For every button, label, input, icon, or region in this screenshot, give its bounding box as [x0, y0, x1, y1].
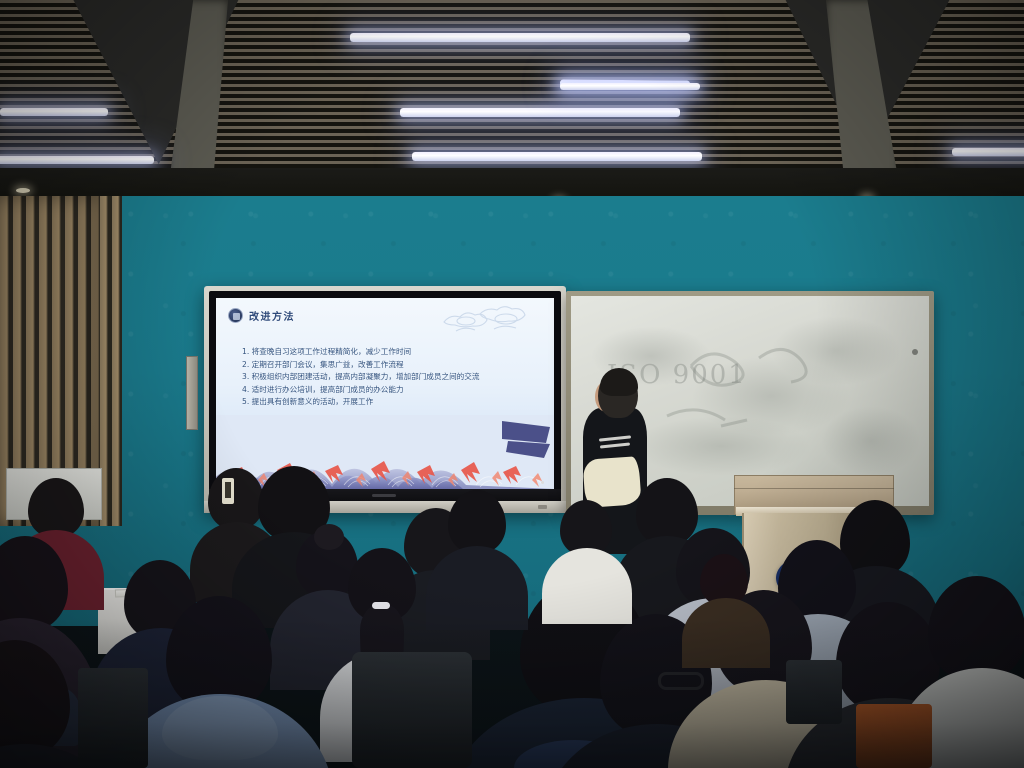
chair-back — [856, 704, 932, 768]
presentation-slide[interactable]: 改进方法 1. 将查晚自习这项工作过程精简化，减少工作时间 2. 定期召开部门会… — [216, 298, 554, 489]
ceiling-light-tube-4 — [412, 152, 702, 161]
slide-bullet-2: 2. 定期召开部门会议，集思广益，改善工作流程 — [242, 359, 542, 372]
student-head — [28, 478, 84, 538]
classroom-scene: 改进方法 1. 将查晚自习这项工作过程精简化，减少工作时间 2. 定期召开部门会… — [0, 0, 1024, 768]
hair-tie-icon — [372, 602, 390, 609]
hair-bun — [314, 524, 344, 550]
wood-slat-wall-panel-edge — [100, 196, 122, 526]
whiteboard-tray-edge — [734, 488, 894, 489]
slide-title: 改进方法 — [249, 308, 295, 323]
hair-clip-detail-icon — [225, 482, 231, 498]
ceiling-light-tube-8 — [560, 83, 700, 90]
chair-back — [786, 660, 842, 724]
slide-bullet-3: 3. 积极组织内部团建活动，提高内部凝聚力，增加部门成员之间的交流 — [242, 371, 542, 384]
display-control-button[interactable] — [538, 505, 547, 509]
slide-bullet-list: 1. 将查晚自习这项工作过程精简化，减少工作时间 2. 定期召开部门会议，集思广… — [242, 346, 542, 409]
student-head — [448, 490, 506, 554]
wall-speaker-panel — [186, 356, 198, 430]
student-head — [208, 468, 264, 530]
ceiling-light-tube-7 — [952, 148, 1024, 156]
ceiling-light-tube-3 — [400, 108, 680, 117]
ceiling-light-tube-5 — [0, 108, 108, 116]
slide-bullet-4: 4. 适时进行办公培训，提高部门成员的办公能力 — [242, 384, 542, 397]
power-led-icon — [541, 481, 544, 484]
slide-bullet-1: 1. 将查晚自习这项工作过程精简化，减少工作时间 — [242, 346, 542, 359]
slide-bullet-5: 5. 提出具有创新意义的活动，开展工作 — [242, 396, 542, 409]
ceiling-light-tube-1 — [350, 33, 690, 42]
eyeglasses-icon — [658, 672, 704, 690]
organization-seal-icon — [228, 308, 243, 323]
ink-mountain-artwork — [216, 415, 554, 489]
ir-sensor-icon — [372, 494, 396, 497]
cloud-watermark-icon — [436, 304, 546, 340]
downlight-icon — [16, 188, 30, 193]
chair-back — [352, 652, 472, 768]
ceiling-light-tube-6 — [0, 156, 154, 164]
chair-back — [78, 668, 148, 768]
student-head — [928, 576, 1024, 682]
